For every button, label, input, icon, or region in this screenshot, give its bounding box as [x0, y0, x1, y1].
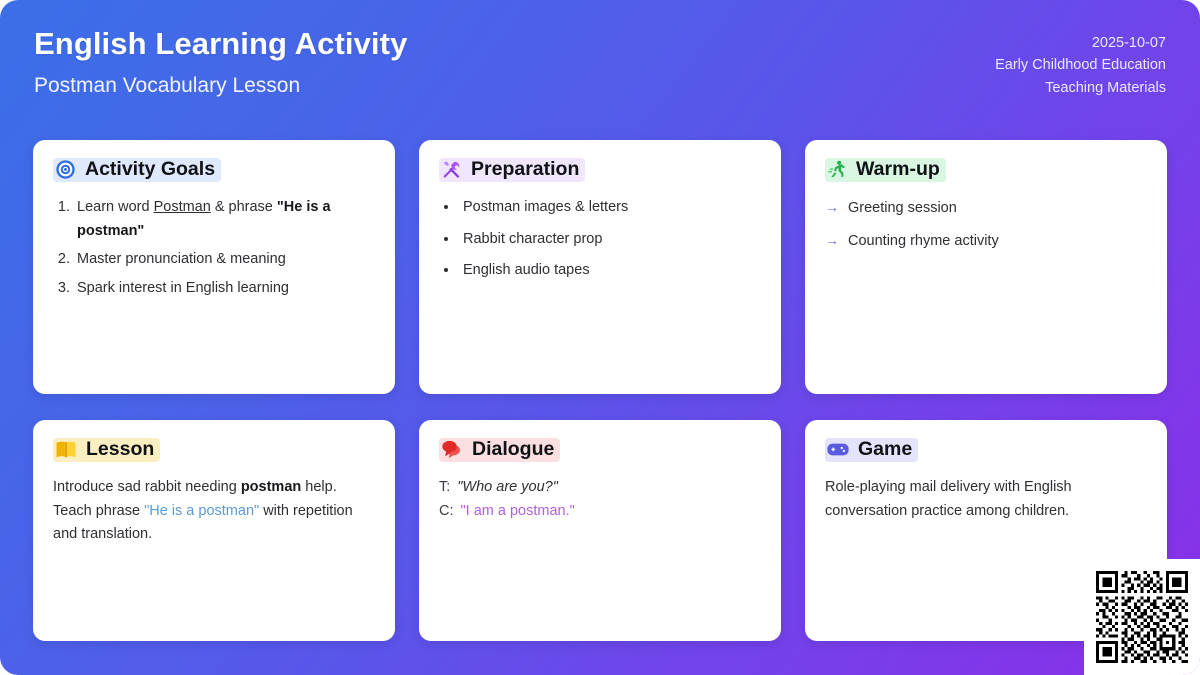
dialogue-line-teacher: T: "Who are you?" [439, 476, 761, 499]
dialogue-speaker: T: [439, 476, 450, 499]
warmup-item-text: Greeting session [848, 197, 957, 220]
speech-bubbles-icon [441, 440, 463, 459]
goal-middle: & phrase [211, 199, 277, 215]
header-meta: 2025-10-07 Early Childhood Education Tea… [995, 26, 1166, 99]
game-text: Role-playing mail delivery with English … [825, 476, 1147, 523]
game-controller-icon [827, 441, 849, 458]
list-item: Master pronunciation & meaning [74, 248, 375, 271]
card-activity-goals: Activity Goals Learn word Postman & phra… [33, 140, 395, 394]
meta-type: Teaching Materials [1045, 77, 1166, 99]
card-title-dialogue: Dialogue [472, 439, 554, 460]
dialogue-speaker: C: [439, 500, 454, 523]
warmup-item-text: Counting rhyme activity [848, 230, 999, 253]
qr-code[interactable] [1096, 571, 1188, 663]
card-header-game: Game [825, 438, 918, 462]
lesson-text: Introduce sad rabbit needing postman hel… [53, 476, 375, 546]
card-title-preparation: Preparation [471, 159, 579, 180]
arrow-right-icon: → [825, 196, 839, 219]
card-warmup: Warm-up → Greeting session → Counting rh… [805, 140, 1167, 394]
lesson-text-part1: Introduce sad rabbit needing [53, 479, 241, 495]
list-item: Learn word Postman & phrase "He is a pos… [74, 196, 375, 243]
qr-panel [1084, 559, 1200, 675]
goals-list: Learn word Postman & phrase "He is a pos… [53, 196, 375, 300]
page-subtitle: Postman Vocabulary Lesson [34, 73, 407, 99]
card-lesson: Lesson Introduce sad rabbit needing post… [33, 420, 395, 641]
dialogue-text: "I am a postman." [461, 500, 575, 523]
lesson-text-phrase: "He is a postman" [144, 503, 259, 519]
list-item: Postman images & letters [459, 196, 761, 219]
page-title: English Learning Activity [34, 26, 407, 63]
card-title-lesson: Lesson [86, 439, 154, 460]
card-header-lesson: Lesson [53, 438, 160, 462]
page-header: English Learning Activity Postman Vocabu… [0, 0, 1200, 118]
goal-underlined-word: Postman [154, 199, 211, 215]
meta-date: 2025-10-07 [1092, 32, 1166, 54]
preparation-list: Postman images & letters Rabbit characte… [439, 196, 761, 282]
card-preparation: Preparation Postman images & letters Rab… [419, 140, 781, 394]
card-title-activity-goals: Activity Goals [85, 159, 215, 180]
list-item: Rabbit character prop [459, 228, 761, 251]
card-title-warmup: Warm-up [856, 159, 940, 180]
dialogue-text: "Who are you?" [457, 476, 558, 499]
card-grid: Activity Goals Learn word Postman & phra… [33, 140, 1167, 641]
card-title-game: Game [858, 439, 912, 460]
arrow-right-icon: → [825, 229, 839, 252]
meta-category: Early Childhood Education [995, 54, 1166, 76]
target-icon [55, 159, 76, 180]
list-item: Spark interest in English learning [74, 277, 375, 300]
open-book-icon [55, 440, 77, 459]
poster-page: English Learning Activity Postman Vocabu… [0, 0, 1200, 675]
goal-prefix: Learn word [77, 199, 154, 215]
card-header-warmup: Warm-up [825, 158, 946, 182]
title-block: English Learning Activity Postman Vocabu… [34, 26, 407, 98]
list-item: → Counting rhyme activity [825, 229, 1147, 253]
card-header-activity-goals: Activity Goals [53, 158, 221, 182]
card-header-dialogue: Dialogue [439, 438, 560, 462]
list-item: English audio tapes [459, 259, 761, 282]
dialogue-line-child: C: "I am a postman." [439, 500, 761, 523]
tools-icon [441, 159, 462, 180]
card-dialogue: Dialogue T: "Who are you?" C: "I am a po… [419, 420, 781, 641]
card-header-preparation: Preparation [439, 158, 585, 182]
lesson-text-bold: postman [241, 479, 301, 495]
running-person-icon [827, 159, 847, 180]
list-item: → Greeting session [825, 196, 1147, 220]
